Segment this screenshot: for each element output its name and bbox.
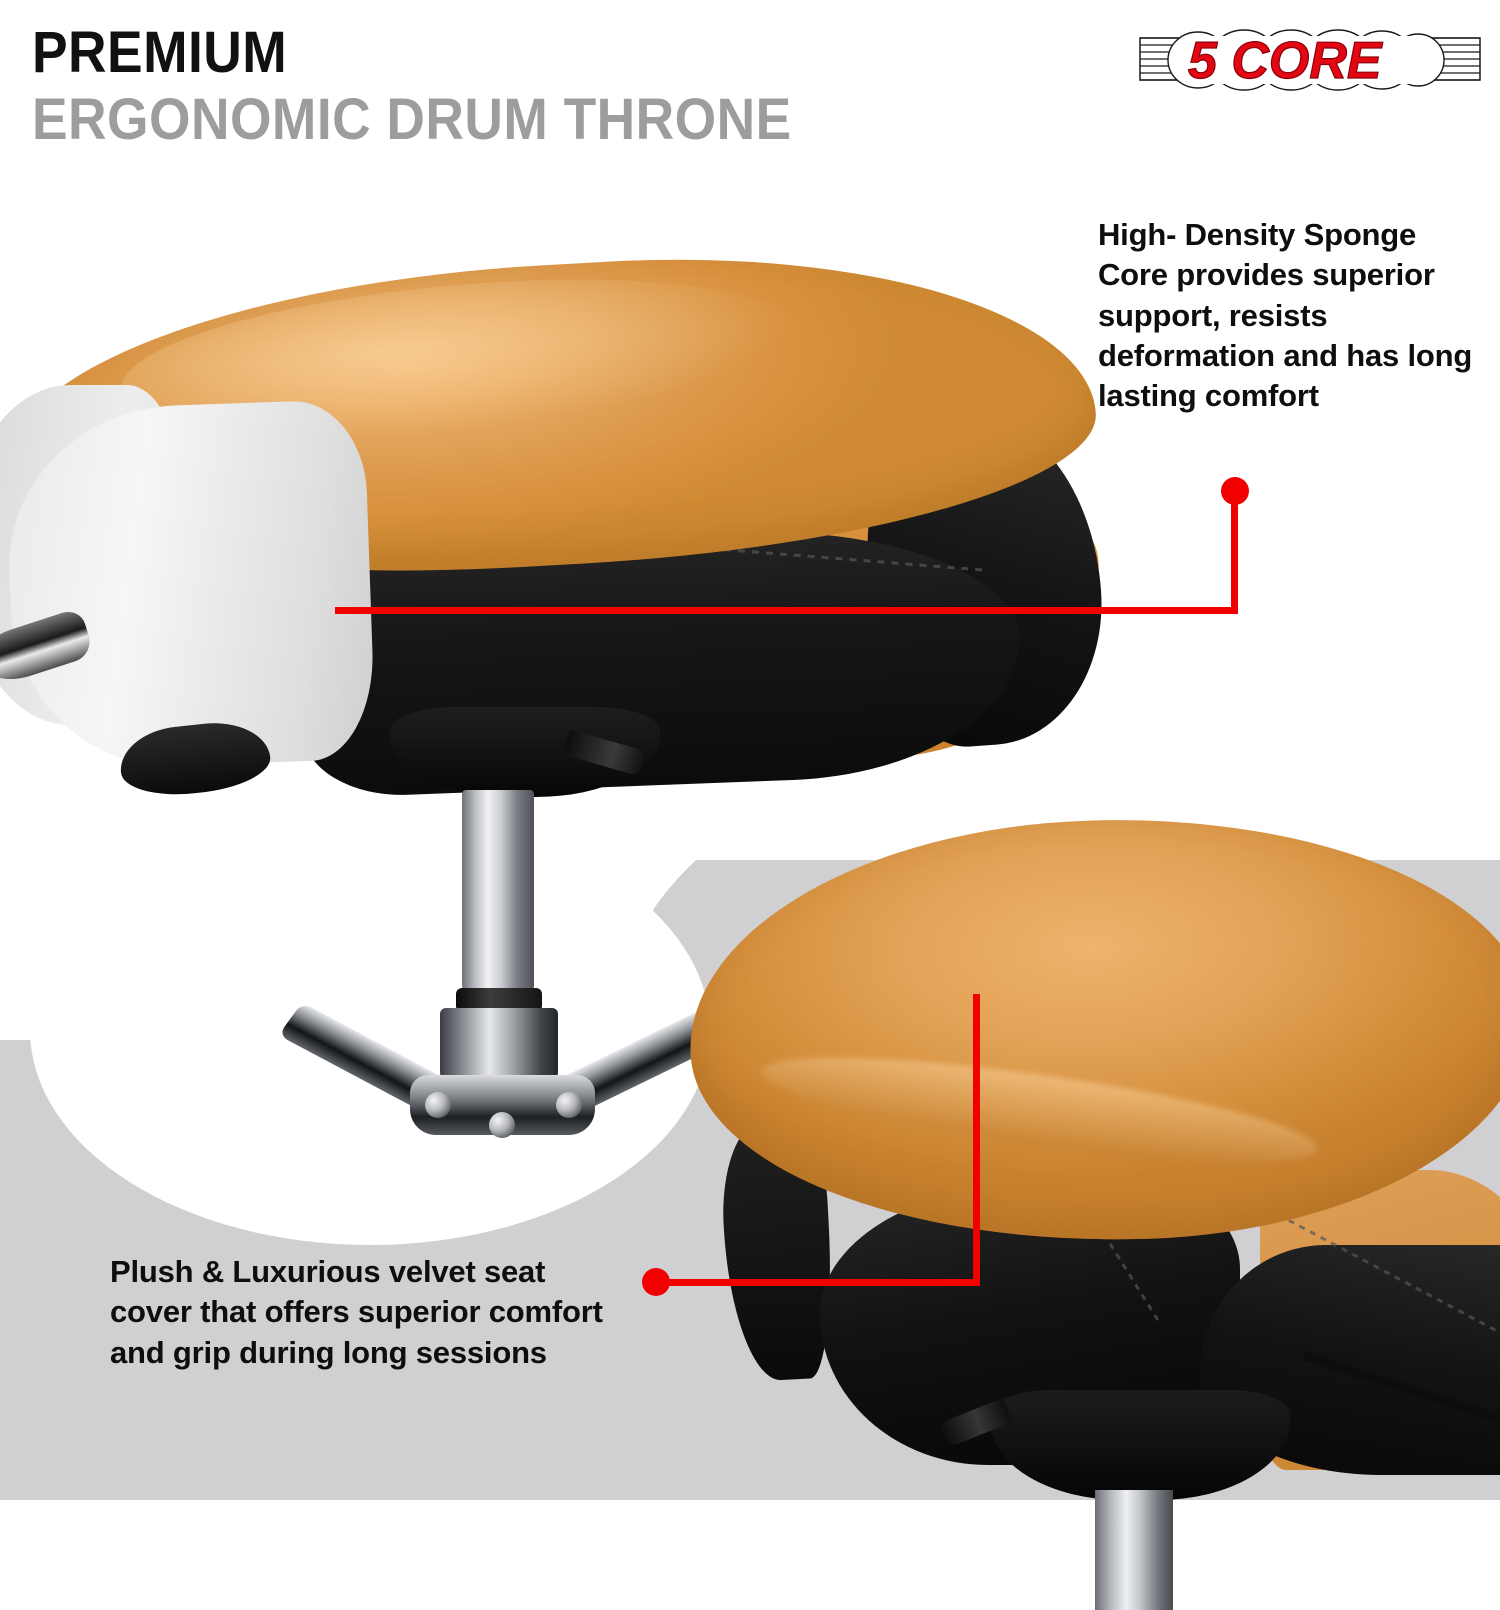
product-image-drum-throne-side-view — [0, 255, 1110, 795]
callout-line-horizontal-bottom — [655, 1279, 980, 1286]
page-title: PREMIUM ERGONOMIC DRUM THRONE — [32, 24, 858, 153]
chrome-column-upper — [462, 790, 534, 990]
brand-logo-5core: 5 CORE — [1136, 18, 1484, 102]
infographic-canvas: PREMIUM ERGONOMIC DRUM THRONE — [0, 0, 1500, 1500]
callout-line-vertical-top — [1231, 490, 1238, 614]
callout-line-horizontal-top — [335, 607, 1238, 614]
title-secondary: ERGONOMIC DRUM THRONE — [32, 88, 792, 153]
callout-line-vertical-bottom — [973, 994, 980, 1284]
callout-plush-velvet-seat-cover: Plush & Luxurious velvet seat cover that… — [110, 1252, 610, 1373]
seat-front-panel-white — [4, 399, 376, 771]
background-white-circle — [30, 815, 710, 1245]
hub-bolt-left — [425, 1092, 451, 1118]
hub-bolt-right — [556, 1092, 582, 1118]
callout-high-density-sponge-core: High- Density Sponge Core provides super… — [1098, 215, 1488, 416]
title-primary: PREMIUM — [32, 24, 792, 82]
seat2-chrome-column — [1095, 1490, 1173, 1610]
product-image-drum-throne-top-view — [640, 790, 1500, 1350]
brand-logo-icon: 5 CORE — [1136, 18, 1484, 102]
hub-bolt-center — [489, 1112, 515, 1138]
brand-logo-text: 5 CORE — [1188, 32, 1383, 90]
